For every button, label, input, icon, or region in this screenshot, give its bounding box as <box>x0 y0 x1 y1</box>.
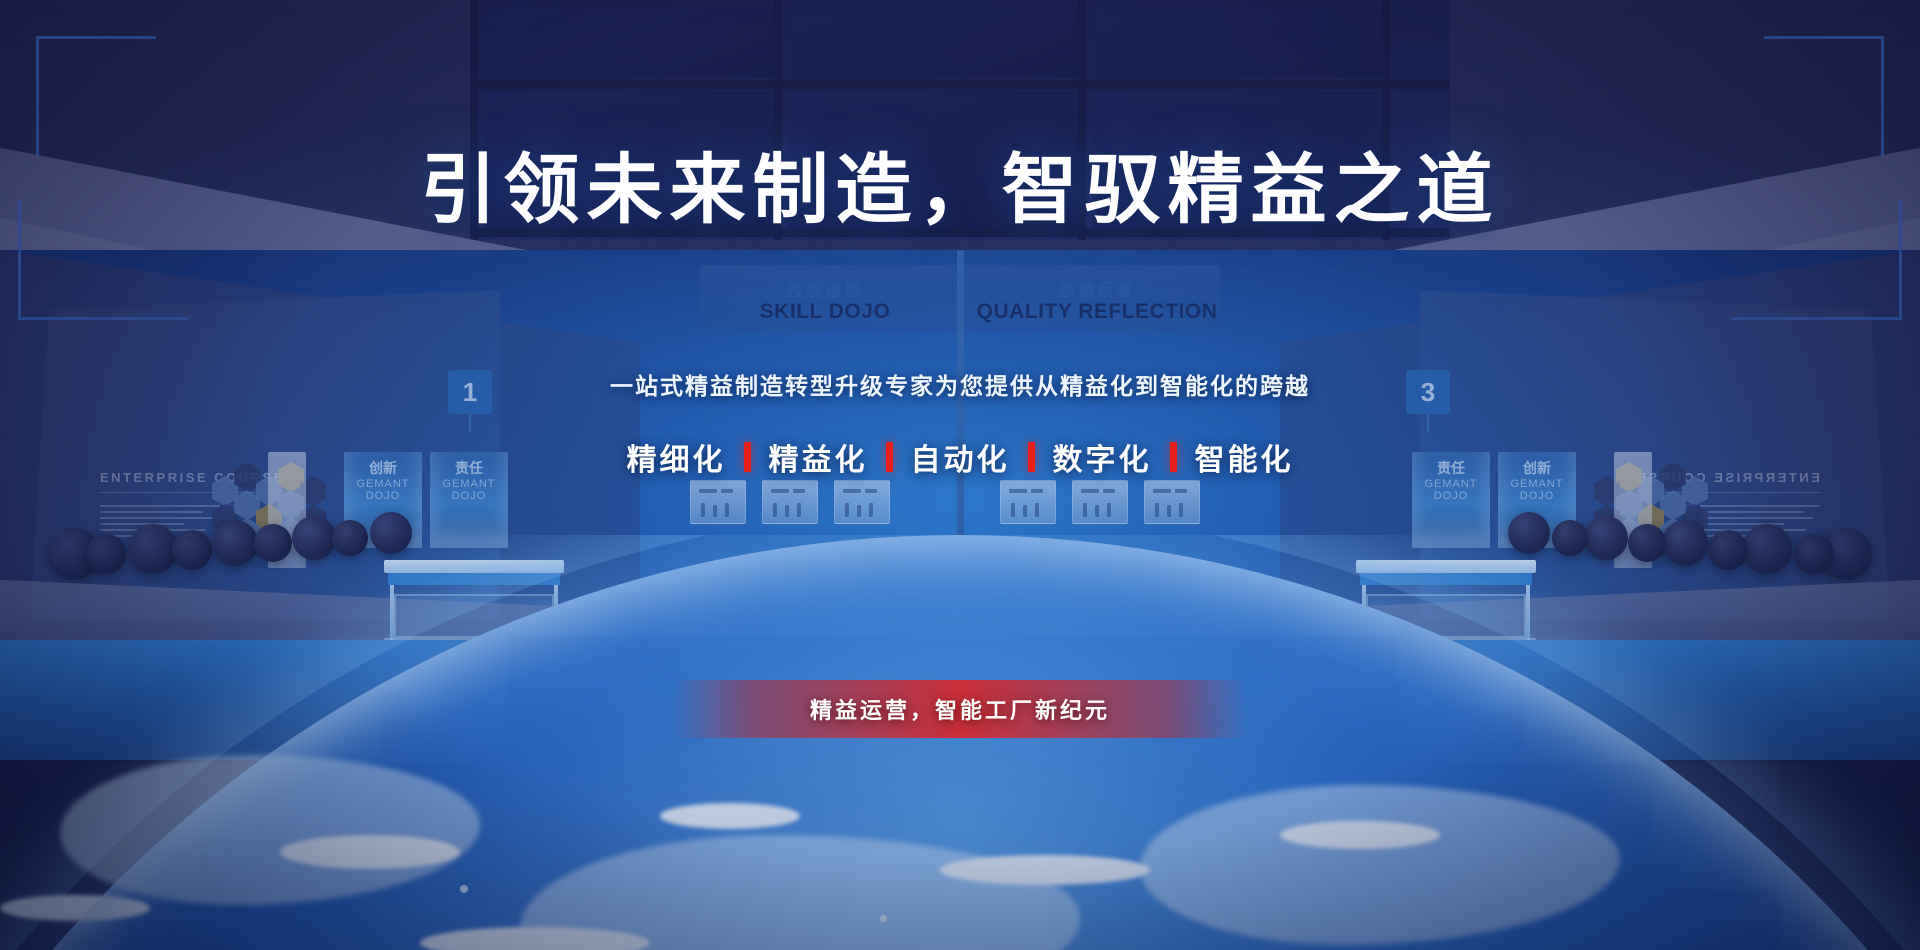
tag-separator-icon-2 <box>886 442 893 472</box>
hero-subtitle: 一站式精益制造转型升级专家为您提供从精益化到智能化的跨越 <box>0 367 1920 401</box>
tag-separator-icon-4 <box>1170 442 1177 472</box>
feature-tag-2: 精益化 <box>769 435 868 479</box>
page-title: 引领未来制造，智驭精益之道 <box>0 128 1920 238</box>
feature-tag-1: 精细化 <box>627 435 726 479</box>
feature-tag-3: 自动化 <box>911 435 1010 479</box>
feature-tag-list: 精细化 精益化 自动化 数字化 智能化 <box>0 435 1920 479</box>
hero-content: 引领未来制造，智驭精益之道 一站式精益制造转型升级专家为您提供从精益化到智能化的… <box>0 0 1920 950</box>
cta-banner-text: 精益运营，智能工厂新纪元 <box>810 693 1110 725</box>
feature-tag-4: 数字化 <box>1053 435 1152 479</box>
tag-separator-icon-1 <box>744 442 751 472</box>
hero-banner: ENTERPRISE COURSE <box>0 0 1920 950</box>
cta-banner[interactable]: 精益运营，智能工厂新纪元 <box>672 680 1248 738</box>
feature-tag-5: 智能化 <box>1195 435 1294 479</box>
tag-separator-icon-3 <box>1028 442 1035 472</box>
